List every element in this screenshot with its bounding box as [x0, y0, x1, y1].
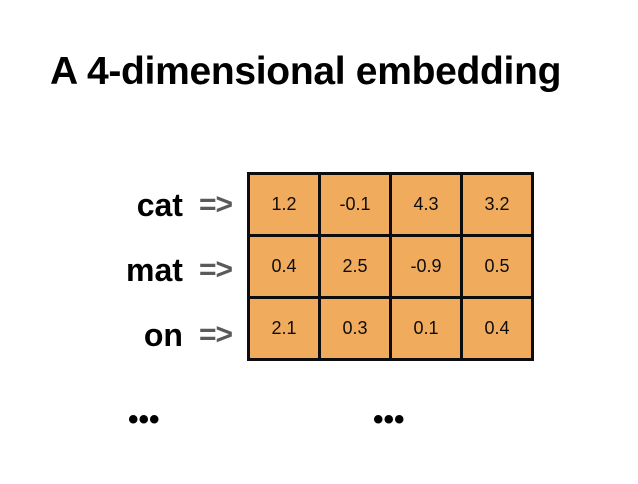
word-label: mat	[126, 254, 183, 286]
matrix-cell: 0.1	[391, 298, 462, 360]
table-row: 1.2 -0.1 4.3 3.2	[249, 174, 533, 236]
word-label-list: cat => mat => on =>	[40, 172, 240, 367]
word-row-mat: mat =>	[40, 237, 240, 302]
word-label: cat	[137, 189, 183, 221]
table-row: 2.1 0.3 0.1 0.4	[249, 298, 533, 360]
ellipsis-words: •••	[128, 405, 160, 435]
embedding-matrix: 1.2 -0.1 4.3 3.2 0.4 2.5 -0.9 0.5 2.1 0.…	[247, 172, 534, 361]
matrix-cell: 0.3	[320, 298, 391, 360]
arrow-icon: =>	[199, 190, 232, 220]
matrix-cell: 0.4	[462, 298, 533, 360]
matrix-cell: 1.2	[249, 174, 320, 236]
arrow-icon: =>	[199, 255, 232, 285]
matrix-cell: -0.9	[391, 236, 462, 298]
matrix-cell: 2.5	[320, 236, 391, 298]
matrix-cell: 0.5	[462, 236, 533, 298]
ellipsis-matrix: •••	[373, 405, 405, 435]
matrix-cell: 2.1	[249, 298, 320, 360]
table-row: 0.4 2.5 -0.9 0.5	[249, 236, 533, 298]
slide-canvas: A 4-dimensional embedding cat => mat => …	[0, 0, 638, 484]
word-row-cat: cat =>	[40, 172, 240, 237]
page-title: A 4-dimensional embedding	[50, 48, 610, 96]
matrix-cell: 0.4	[249, 236, 320, 298]
matrix-cell: -0.1	[320, 174, 391, 236]
word-label: on	[144, 319, 183, 351]
matrix-cell: 4.3	[391, 174, 462, 236]
arrow-icon: =>	[199, 320, 232, 350]
word-row-on: on =>	[40, 302, 240, 367]
matrix-cell: 3.2	[462, 174, 533, 236]
